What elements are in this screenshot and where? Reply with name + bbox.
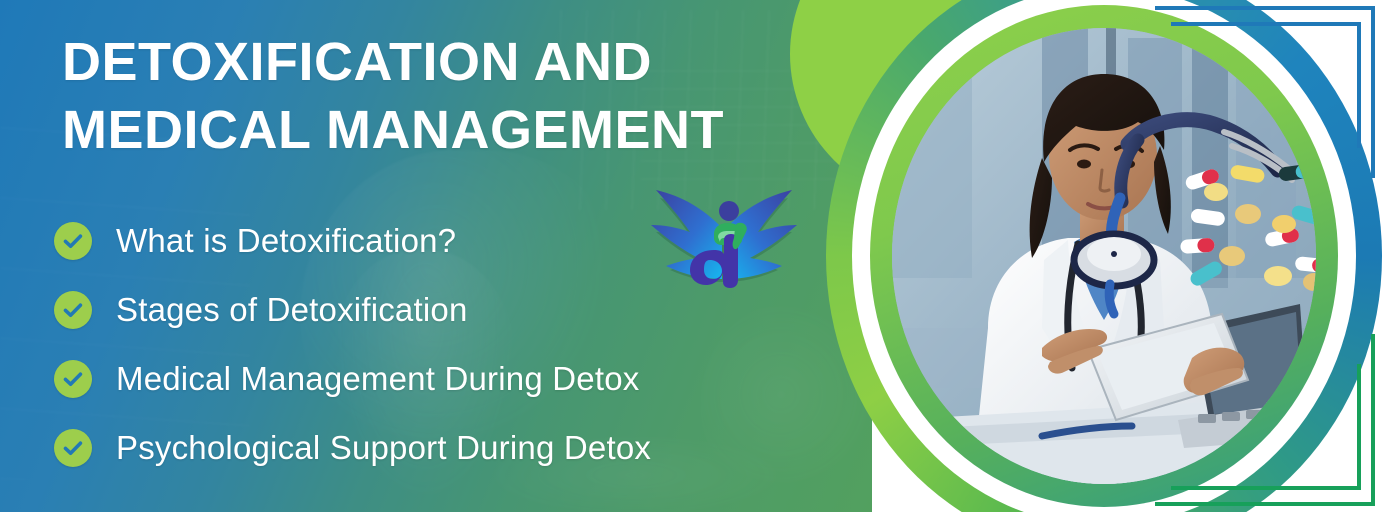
- list-item-label: Medical Management During Detox: [116, 360, 639, 398]
- check-circle-icon: [54, 360, 92, 398]
- list-item: Medical Management During Detox: [54, 344, 844, 413]
- title-line-1: DETOXIFICATION AND: [62, 28, 822, 96]
- list-item-label: Stages of Detoxification: [116, 291, 468, 329]
- banner-title: DETOXIFICATION AND MEDICAL MANAGEMENT: [62, 28, 822, 164]
- list-item-label: What is Detoxification?: [116, 222, 456, 260]
- check-circle-icon: [54, 291, 92, 329]
- list-item: Psychological Support During Detox: [54, 413, 844, 482]
- check-circle-icon: [54, 222, 92, 260]
- winged-a-logo: [640, 178, 805, 303]
- check-circle-icon: [54, 429, 92, 467]
- title-line-2: MEDICAL MANAGEMENT: [62, 96, 822, 164]
- corner-bracket-bottom-right-inner: [1171, 364, 1361, 490]
- banner-root: DETOXIFICATION AND MEDICAL MANAGEMENT Wh…: [0, 0, 1383, 512]
- list-item-label: Psychological Support During Detox: [116, 429, 651, 467]
- corner-bracket-top-right-inner: [1171, 22, 1361, 148]
